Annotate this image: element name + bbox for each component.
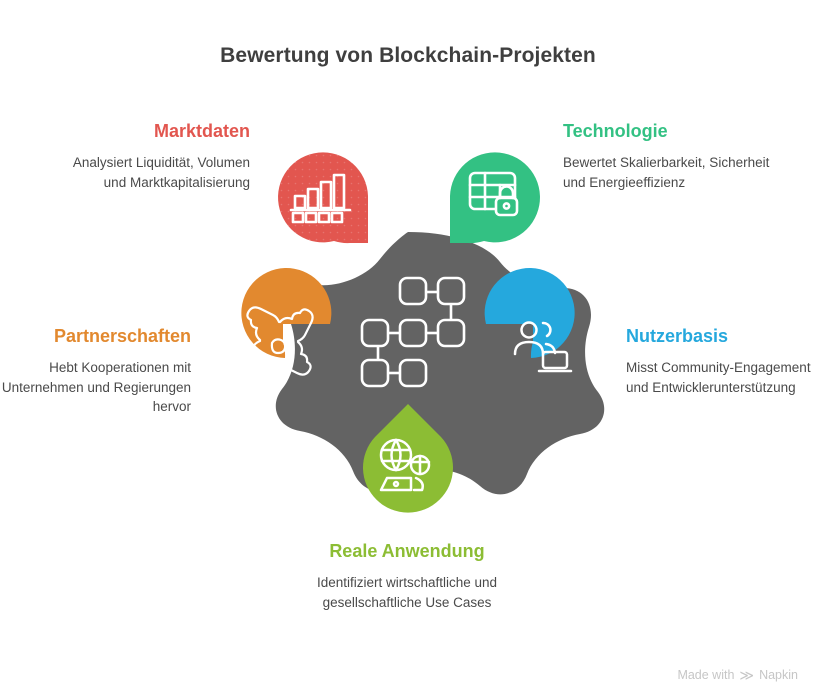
description-marktdaten: Analysiert Liquidität, Volumen und Markt… xyxy=(60,153,250,192)
watermark-brand-text: Napkin xyxy=(759,668,798,682)
description-reale-anwendung: Identifiziert wirtschaftliche und gesell… xyxy=(307,573,507,612)
hub-and-spoke-diagram: Marktdaten Analysiert Liquidität, Volume… xyxy=(0,0,816,696)
heading-reale-anwendung: Reale Anwendung xyxy=(307,540,507,562)
heading-marktdaten: Marktdaten xyxy=(60,120,250,142)
marktdaten-petal-texture xyxy=(278,152,368,243)
label-reale-anwendung: Reale Anwendung Identifiziert wirtschaft… xyxy=(307,540,507,612)
label-marktdaten: Marktdaten Analysiert Liquidität, Volume… xyxy=(60,120,250,192)
node-marktdaten[interactable] xyxy=(278,152,371,247)
heading-technologie: Technologie xyxy=(563,120,773,142)
label-partnerschaften: Partnerschaften Hebt Kooperationen mit U… xyxy=(0,325,191,417)
napkin-logo-icon: ≫ xyxy=(739,668,754,682)
label-technologie: Technologie Bewertet Skalierbarkeit, Sic… xyxy=(563,120,773,192)
napkin-watermark: Made with ≫ Napkin xyxy=(677,668,798,682)
watermark-made-with-text: Made with xyxy=(677,668,734,682)
description-nutzerbasis: Misst Community-Engagement und Entwickle… xyxy=(626,358,816,397)
description-technologie: Bewertet Skalierbarkeit, Sicherheit und … xyxy=(563,153,773,192)
heading-partnerschaften: Partnerschaften xyxy=(0,325,191,347)
label-nutzerbasis: Nutzerbasis Misst Community-Engagement u… xyxy=(626,325,816,397)
node-technologie[interactable] xyxy=(450,152,540,243)
heading-nutzerbasis: Nutzerbasis xyxy=(626,325,816,347)
description-partnerschaften: Hebt Kooperationen mit Unternehmen und R… xyxy=(0,358,191,417)
